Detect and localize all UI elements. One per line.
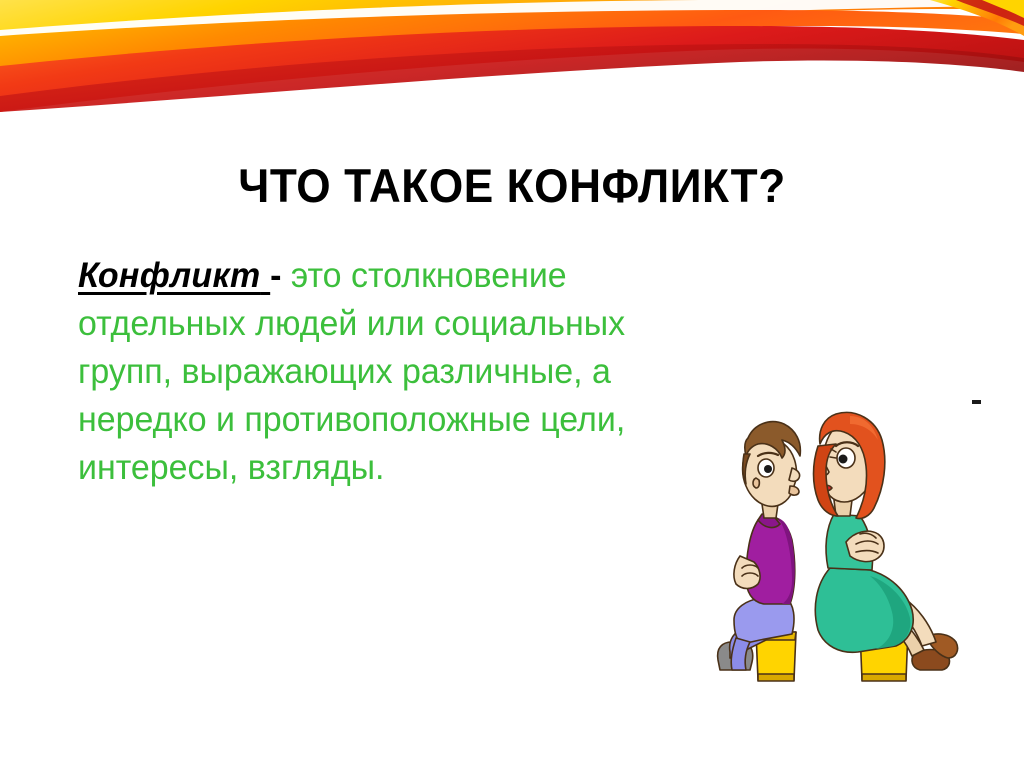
definition-term: Конфликт: [78, 256, 260, 295]
definition-paragraph: Конфликт - это столкновение отдельных лю…: [78, 252, 699, 492]
definition-dash: -: [270, 256, 281, 295]
two-people-arguing-clipart: [700, 392, 1000, 692]
page-title: ЧТО ТАКОЕ КОНФЛИКТ?: [31, 157, 994, 215]
decorative-wave-banner: [0, 0, 1024, 112]
slide: ЧТО ТАКОЕ КОНФЛИКТ? Конфликт - это столк…: [0, 0, 1024, 767]
scan-artifact-mark: [972, 400, 981, 404]
